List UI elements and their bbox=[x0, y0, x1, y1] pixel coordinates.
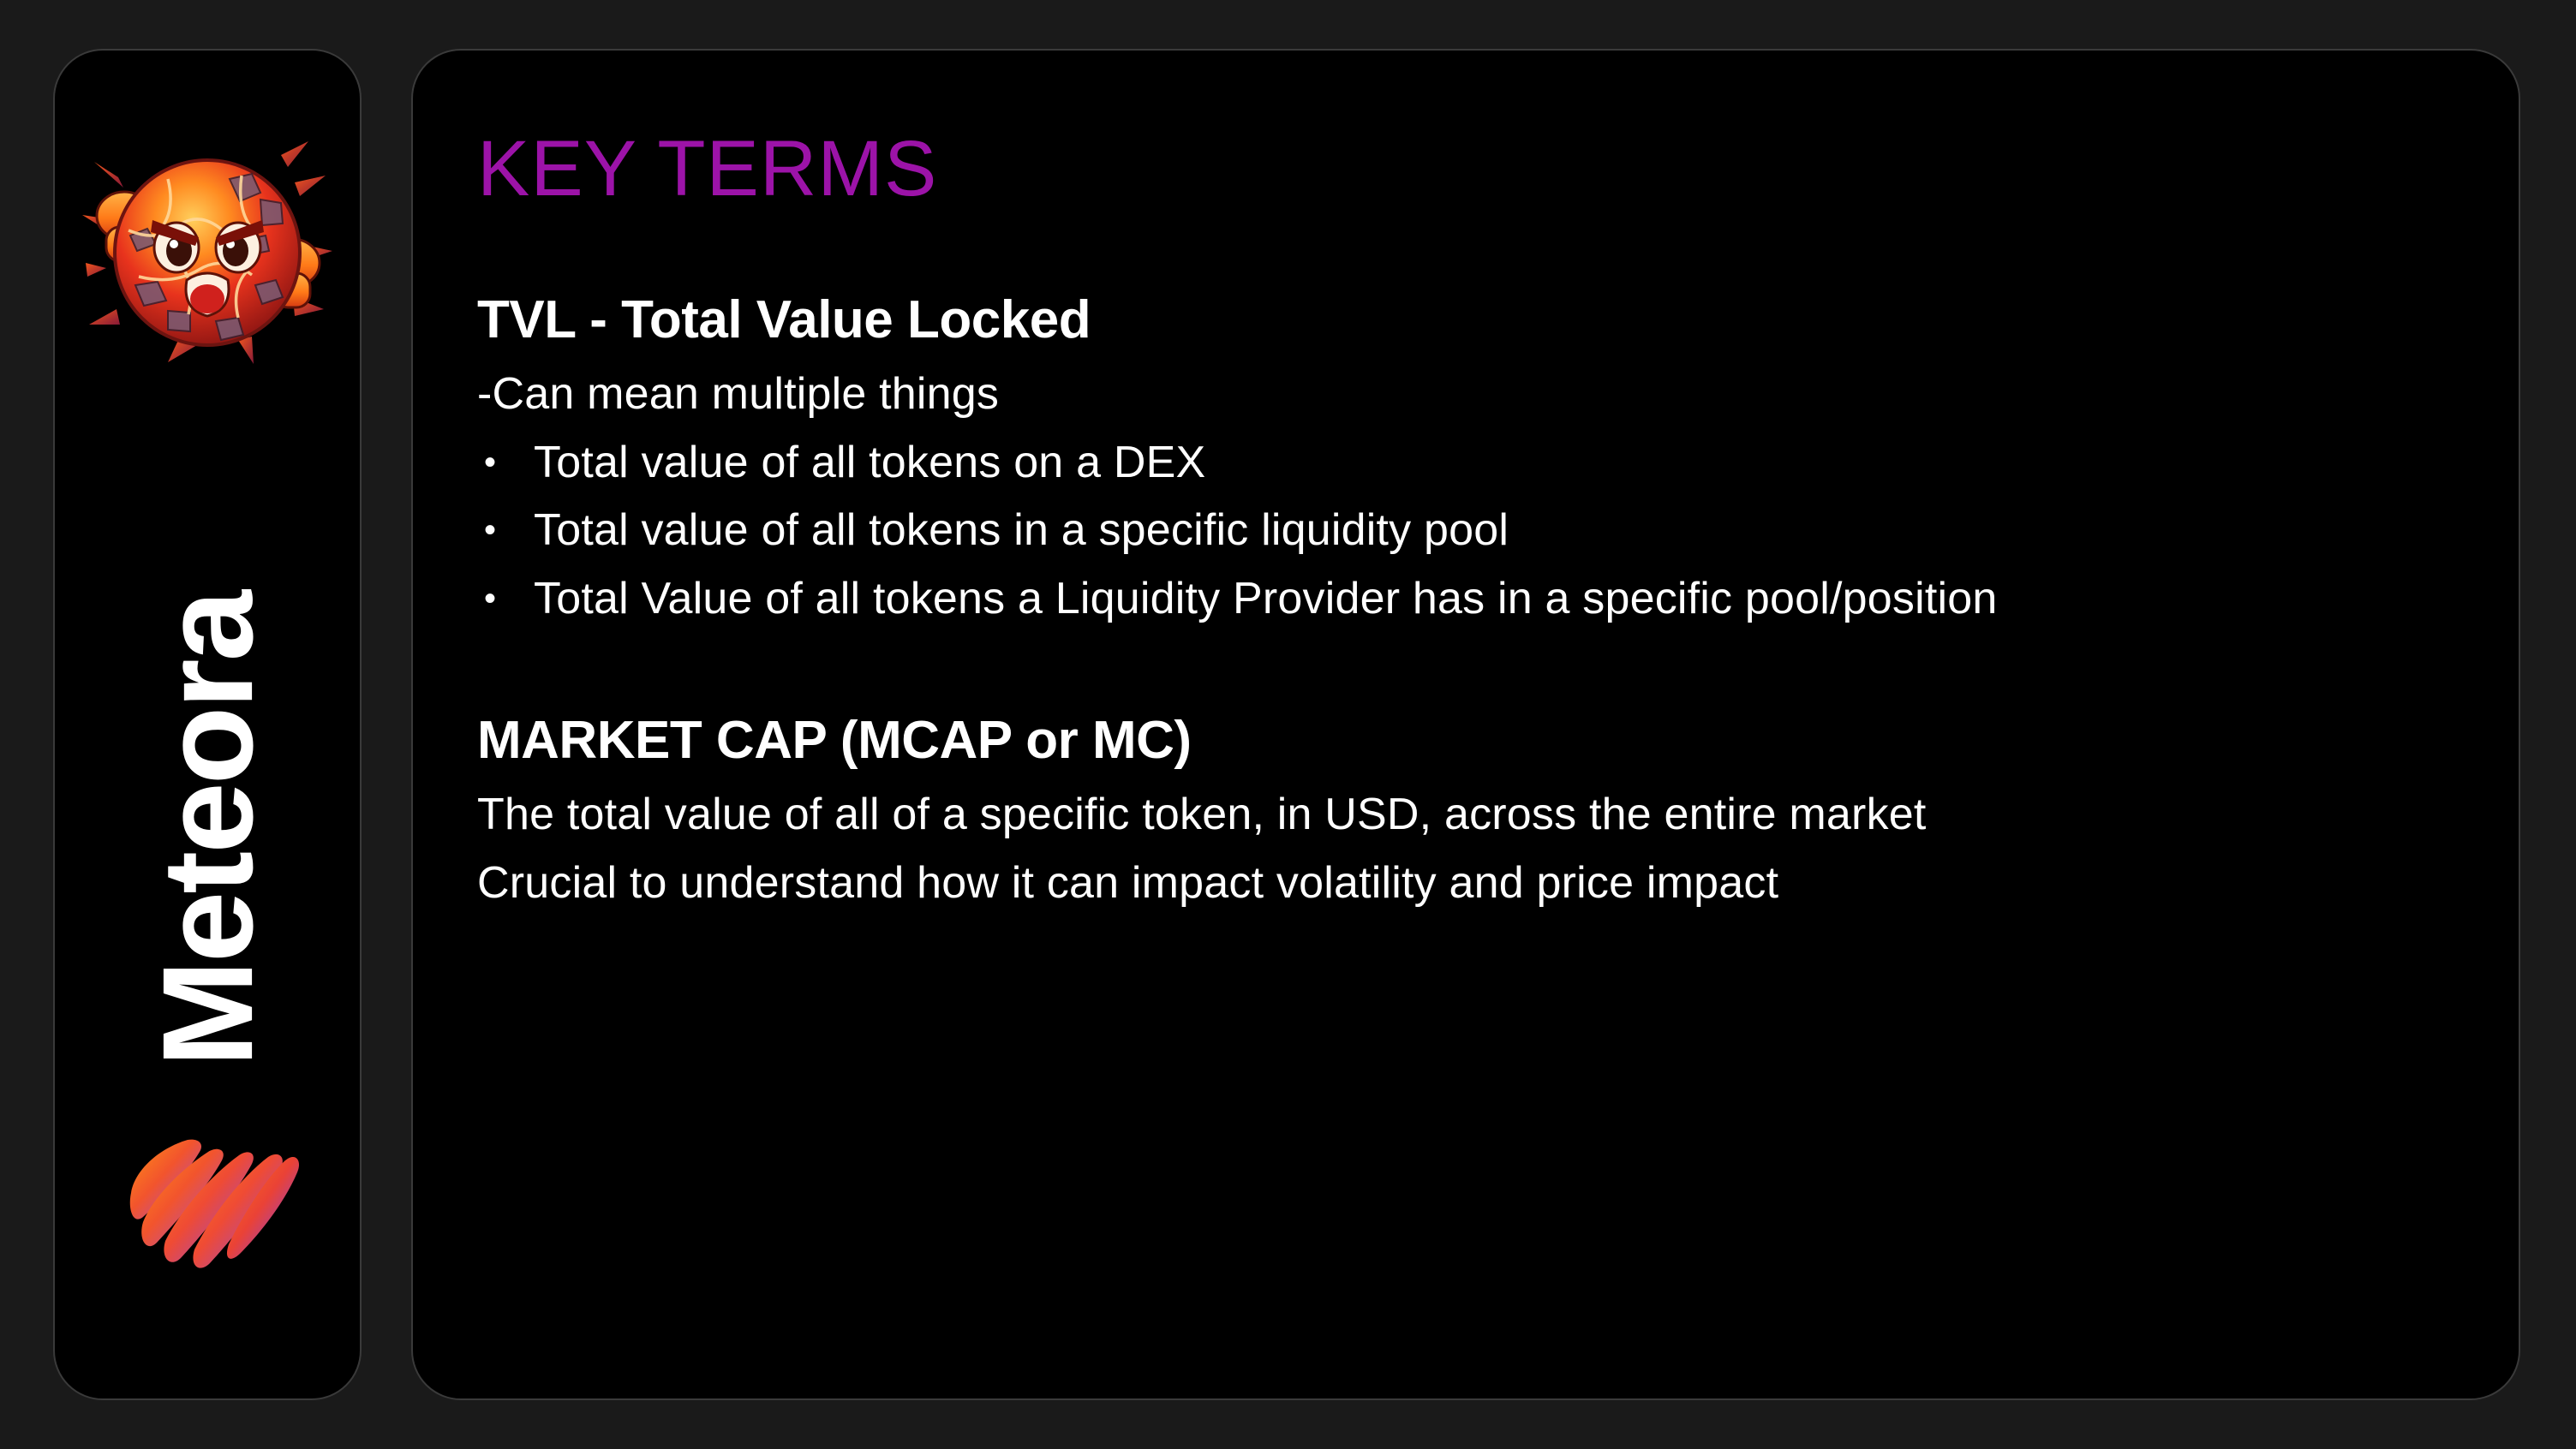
list-item-label: Total value of all tokens in a specific … bbox=[534, 504, 2436, 557]
meteora-logo-icon bbox=[109, 1118, 306, 1272]
section-market-cap: MARKET CAP (MCAP or MC) The total value … bbox=[477, 711, 2436, 909]
section-heading-tvl: TVL - Total Value Locked bbox=[477, 290, 2436, 349]
bullet-dot-icon: • bbox=[477, 573, 534, 624]
tvl-bullet-list: • Total value of all tokens on a DEX • T… bbox=[477, 437, 2436, 625]
bullet-dot-icon: • bbox=[477, 504, 534, 556]
tvl-lead-line: -Can mean multiple things bbox=[477, 368, 2436, 420]
slide-root: Meteora bbox=[0, 0, 2576, 1449]
list-item-label: Total value of all tokens on a DEX bbox=[534, 437, 2436, 489]
mascot-image bbox=[79, 126, 336, 366]
section-tvl: TVL - Total Value Locked -Can mean multi… bbox=[477, 290, 2436, 625]
section-heading-market-cap: MARKET CAP (MCAP or MC) bbox=[477, 711, 2436, 770]
bullet-dot-icon: • bbox=[477, 437, 534, 488]
mascot-body bbox=[115, 160, 300, 345]
brand-name-text: Meteora bbox=[143, 593, 272, 1067]
market-cap-line-1: The total value of all of a specific tok… bbox=[477, 789, 2436, 841]
sidebar-panel: Meteora bbox=[53, 49, 362, 1400]
page-title: KEY TERMS bbox=[477, 129, 2436, 208]
list-item-label: Total Value of all tokens a Liquidity Pr… bbox=[534, 573, 2436, 625]
list-item: • Total Value of all tokens a Liquidity … bbox=[477, 573, 2436, 625]
list-item: • Total value of all tokens on a DEX bbox=[477, 437, 2436, 489]
list-item: • Total value of all tokens in a specifi… bbox=[477, 504, 2436, 557]
brand-name-vertical: Meteora bbox=[79, 530, 336, 1130]
market-cap-line-2: Crucial to understand how it can impact … bbox=[477, 857, 2436, 909]
content-panel: KEY TERMS TVL - Total Value Locked -Can … bbox=[411, 49, 2520, 1400]
section-spacer bbox=[477, 641, 2436, 711]
